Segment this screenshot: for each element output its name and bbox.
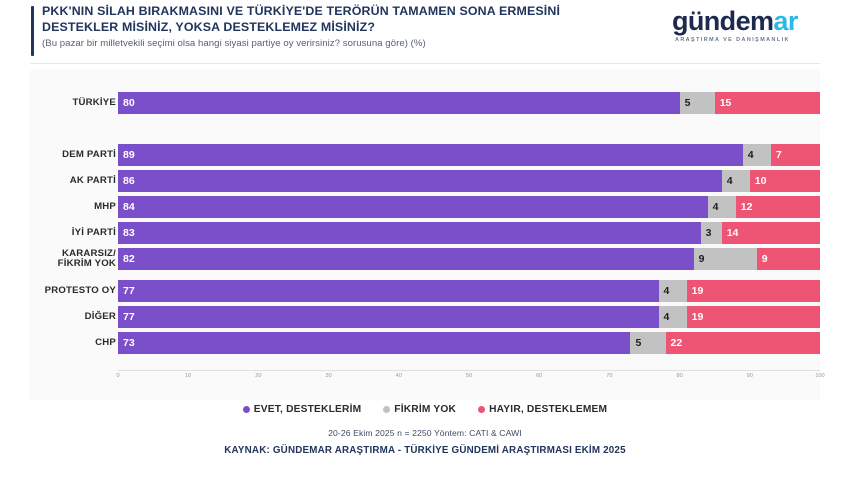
bar-segment-no: 12 [736,196,820,218]
bar-segment-yes: 83 [118,222,701,244]
category-label: DEM PARTİ [0,144,116,166]
bar-segment-no: 15 [715,92,820,114]
x-axis-line [118,370,820,371]
poll-chart-page: PKK'NIN SİLAH BIRAKMASINI VE TÜRKİYE'DE … [0,0,850,478]
gundemar-logo: gündemar ARAŞTIRMA VE DANIŞMANLIK [672,6,842,52]
bar-value-label: 4 [659,285,670,297]
x-axis-tick-label: 70 [606,373,612,379]
category-label: AK PARTİ [0,170,116,192]
category-label: İYİ PARTİ [0,222,116,244]
stacked-bar: 77419 [118,306,820,328]
bar-value-label: 77 [118,311,135,323]
logo-wordmark-accent: ar [773,6,797,36]
x-axis-tick-label: 0 [116,373,119,379]
x-axis-tick-label: 30 [325,373,331,379]
bar-segment-yes: 80 [118,92,680,114]
stacked-bar: 83314 [118,222,820,244]
logo-tagline: ARAŞTIRMA VE DANIŞMANLIK [675,37,842,43]
title-accent-bar [31,6,34,56]
chart-row: TÜRKİYE80515 [30,92,820,114]
bar-segment-no: 19 [687,280,820,302]
x-axis-tick-label: 100 [815,373,824,379]
bar-segment-no-idea: 3 [701,222,722,244]
bar-segment-no-idea: 4 [659,280,687,302]
bar-value-label: 82 [118,253,135,265]
legend-label: HAYIR, DESTEKLEMEM [489,404,607,415]
category-label: CHP [0,332,116,354]
bar-value-label: 22 [666,337,683,349]
chart-row: AK PARTİ86410 [30,170,820,192]
x-axis: 0102030405060708090100 [118,370,820,384]
stacked-bar: 84412 [118,196,820,218]
bar-value-label: 77 [118,285,135,297]
bar-segment-no: 10 [750,170,820,192]
bar-segment-no-idea: 9 [694,248,757,270]
bar-segment-no-idea: 4 [743,144,771,166]
bar-value-label: 7 [771,149,782,161]
bar-segment-yes: 73 [118,332,630,354]
legend-item: FİKRİM YOK [383,404,456,415]
x-axis-tick-label: 40 [396,373,402,379]
chart-row: İYİ PARTİ83314 [30,222,820,244]
page-title-line-2: DESTEKLER MİSİNİZ, YOKSA DESTEKLEMEZ MİS… [42,20,662,36]
bar-value-label: 14 [722,227,739,239]
chart-card: TÜRKİYE80515DEM PARTİ8947AK PARTİ86410MH… [30,70,820,400]
bar-value-label: 15 [715,97,732,109]
bar-segment-no: 14 [722,222,820,244]
stacked-bar: 77419 [118,280,820,302]
x-axis-tick-label: 60 [536,373,542,379]
bar-value-label: 5 [680,97,691,109]
category-label: DİĞER [0,306,116,328]
bar-segment-no: 7 [771,144,820,166]
chart-row: KARARSIZ/ FİKRİM YOK8299 [30,248,820,270]
legend-item: EVET, DESTEKLERİM [243,404,362,415]
bar-segment-yes: 84 [118,196,708,218]
legend-label: FİKRİM YOK [394,404,456,415]
category-label: TÜRKİYE [0,92,116,114]
x-axis-tick-label: 90 [747,373,753,379]
stacked-bar: 8947 [118,144,820,166]
bar-value-label: 4 [743,149,754,161]
legend-label: EVET, DESTEKLERİM [254,404,362,415]
bar-segment-no-idea: 4 [659,306,687,328]
bar-value-label: 19 [687,285,704,297]
x-axis-tick-label: 20 [255,373,261,379]
category-label: MHP [0,196,116,218]
logo-wordmark-main: gündem [672,6,773,36]
footer-method-line: 20-26 Ekim 2025 n = 2250 Yöntem: CATI & … [0,428,850,438]
category-label: PROTESTO OY [0,280,116,302]
bar-value-label: 4 [722,175,733,187]
footer-source-line: KAYNAK: GÜNDEMAR ARAŞTIRMA - TÜRKİYE GÜN… [0,445,850,456]
category-label: KARARSIZ/ FİKRİM YOK [0,248,116,270]
bar-value-label: 12 [736,201,753,213]
bar-segment-yes: 77 [118,280,659,302]
bar-segment-no-idea: 4 [722,170,750,192]
legend-swatch-icon [243,406,250,413]
bar-value-label: 10 [750,175,767,187]
title-block: PKK'NIN SİLAH BIRAKMASINI VE TÜRKİYE'DE … [42,4,662,49]
legend-item: HAYIR, DESTEKLEMEM [478,404,607,415]
bar-segment-yes: 86 [118,170,722,192]
bar-value-label: 86 [118,175,135,187]
chart-footer: 20-26 Ekim 2025 n = 2250 Yöntem: CATI & … [0,428,850,456]
header-divider [30,63,820,64]
x-axis-tick-label: 50 [466,373,472,379]
x-axis-tick-label: 10 [185,373,191,379]
chart-legend: EVET, DESTEKLERİMFİKRİM YOKHAYIR, DESTEK… [0,398,850,420]
bar-value-label: 5 [630,337,641,349]
bar-segment-no: 22 [666,332,820,354]
chart-row: CHP73522 [30,332,820,354]
bar-value-label: 73 [118,337,135,349]
page-subtitle: (Bu pazar bir milletvekili seçimi olsa h… [42,38,662,49]
stacked-bar: 80515 [118,92,820,114]
legend-swatch-icon [478,406,485,413]
bar-value-label: 84 [118,201,135,213]
bar-value-label: 80 [118,97,135,109]
chart-plot-area: TÜRKİYE80515DEM PARTİ8947AK PARTİ86410MH… [30,70,820,370]
page-title-line-1: PKK'NIN SİLAH BIRAKMASINI VE TÜRKİYE'DE … [42,4,662,20]
bar-value-label: 89 [118,149,135,161]
bar-value-label: 19 [687,311,704,323]
bar-segment-yes: 89 [118,144,743,166]
stacked-bar: 86410 [118,170,820,192]
stacked-bar: 8299 [118,248,820,270]
chart-row: MHP84412 [30,196,820,218]
bar-value-label: 83 [118,227,135,239]
logo-wordmark: gündemar [672,6,842,36]
bar-value-label: 4 [659,311,670,323]
x-axis-tick-label: 80 [676,373,682,379]
chart-header: PKK'NIN SİLAH BIRAKMASINI VE TÜRKİYE'DE … [0,0,850,62]
bar-segment-yes: 82 [118,248,694,270]
bar-segment-no: 9 [757,248,820,270]
bar-value-label: 3 [701,227,712,239]
bar-segment-no-idea: 4 [708,196,736,218]
chart-row: DİĞER77419 [30,306,820,328]
legend-swatch-icon [383,406,390,413]
bar-segment-no: 19 [687,306,820,328]
chart-row: PROTESTO OY77419 [30,280,820,302]
bar-segment-yes: 77 [118,306,659,328]
bar-segment-no-idea: 5 [680,92,715,114]
bar-value-label: 9 [757,253,768,265]
stacked-bar: 73522 [118,332,820,354]
bar-value-label: 9 [694,253,705,265]
bar-value-label: 4 [708,201,719,213]
chart-row: DEM PARTİ8947 [30,144,820,166]
bar-segment-no-idea: 5 [630,332,665,354]
